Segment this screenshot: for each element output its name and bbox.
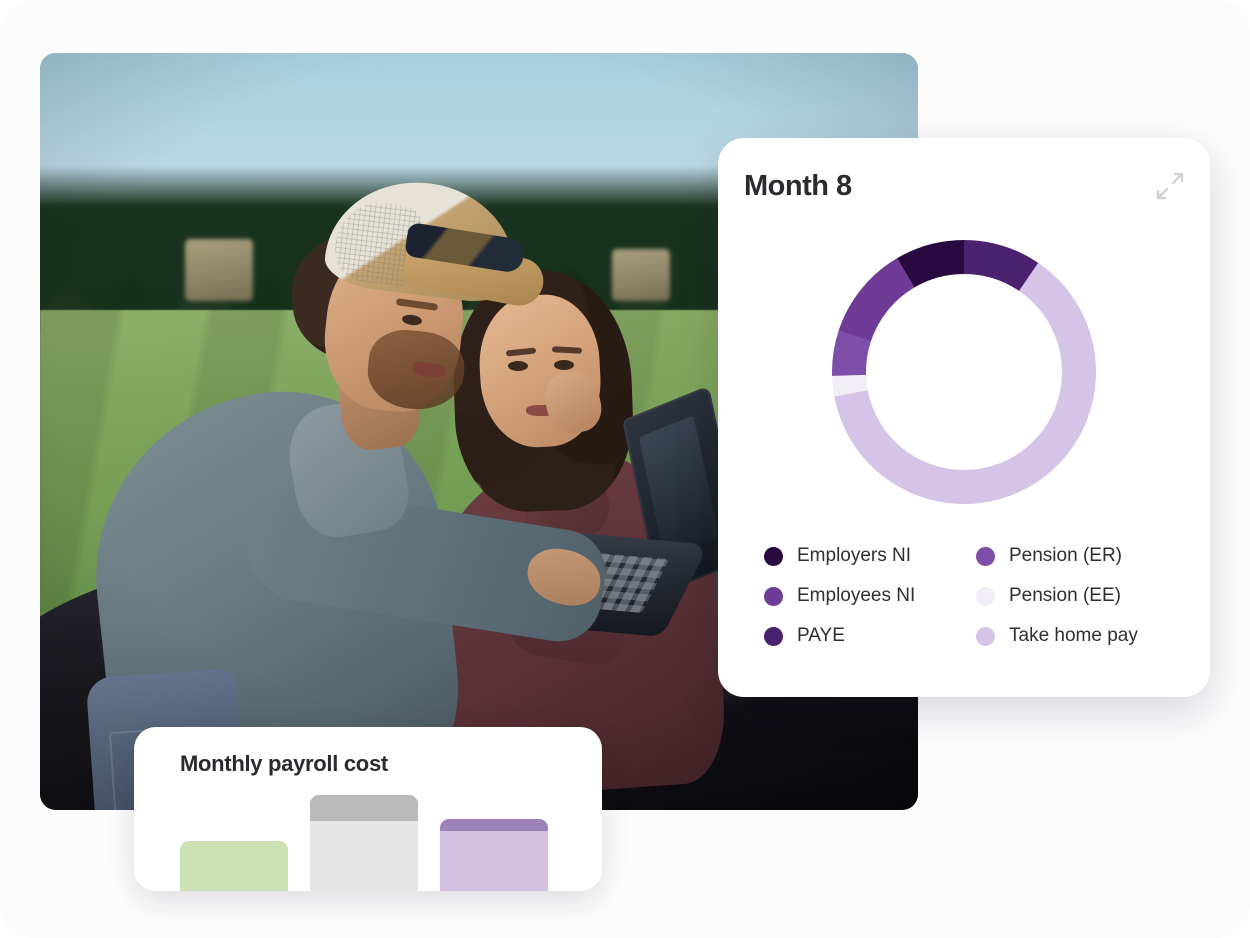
donut-chart-svg bbox=[825, 233, 1103, 511]
monthly-payroll-cost-card: Monthly payroll cost bbox=[134, 727, 602, 891]
legend-item-label: Pension (EE) bbox=[1009, 585, 1121, 607]
legend-item[interactable]: Take home pay bbox=[976, 625, 1176, 647]
month-summary-card: Month 8 Employers NIPension (ER)Employee… bbox=[718, 138, 1210, 697]
bar-segment-top bbox=[440, 819, 548, 831]
legend-dot-icon bbox=[976, 547, 995, 566]
bar-segment-base bbox=[180, 841, 288, 891]
legend-dot-icon bbox=[764, 547, 783, 566]
legend-item[interactable]: Employees NI bbox=[764, 585, 964, 607]
payroll-card-title: Monthly payroll cost bbox=[180, 751, 388, 777]
bar-grey[interactable] bbox=[310, 795, 418, 891]
legend-item-label: Employers NI bbox=[797, 545, 911, 567]
legend-item[interactable]: Pension (ER) bbox=[976, 545, 1176, 567]
legend-item-label: Take home pay bbox=[1009, 625, 1138, 647]
legend-dot-icon bbox=[764, 587, 783, 606]
legend-item-label: Employees NI bbox=[797, 585, 915, 607]
legend-item-label: Pension (ER) bbox=[1009, 545, 1122, 567]
legend-dot-icon bbox=[976, 627, 995, 646]
legend-dot-icon bbox=[764, 627, 783, 646]
bar-lavender[interactable] bbox=[440, 819, 548, 891]
expand-diagonal-arrows-icon[interactable] bbox=[1154, 170, 1186, 202]
chart-legend: Employers NIPension (ER)Employees NIPens… bbox=[764, 536, 1176, 656]
donut-chart bbox=[718, 222, 1210, 522]
bar-green[interactable] bbox=[180, 841, 288, 891]
bar-segment-top bbox=[310, 795, 418, 821]
bar-segment-base bbox=[310, 821, 418, 891]
page-title: Month 8 bbox=[744, 170, 852, 203]
legend-item-label: PAYE bbox=[797, 625, 845, 647]
legend-dot-icon bbox=[976, 587, 995, 606]
payroll-bar-chart bbox=[180, 795, 560, 891]
bar-segment-base bbox=[440, 831, 548, 891]
app-stage: Monthly payroll cost Month 8 Employers N… bbox=[0, 0, 1250, 938]
legend-item[interactable]: Pension (EE) bbox=[976, 585, 1176, 607]
legend-item[interactable]: Employers NI bbox=[764, 545, 964, 567]
legend-item[interactable]: PAYE bbox=[764, 625, 964, 647]
